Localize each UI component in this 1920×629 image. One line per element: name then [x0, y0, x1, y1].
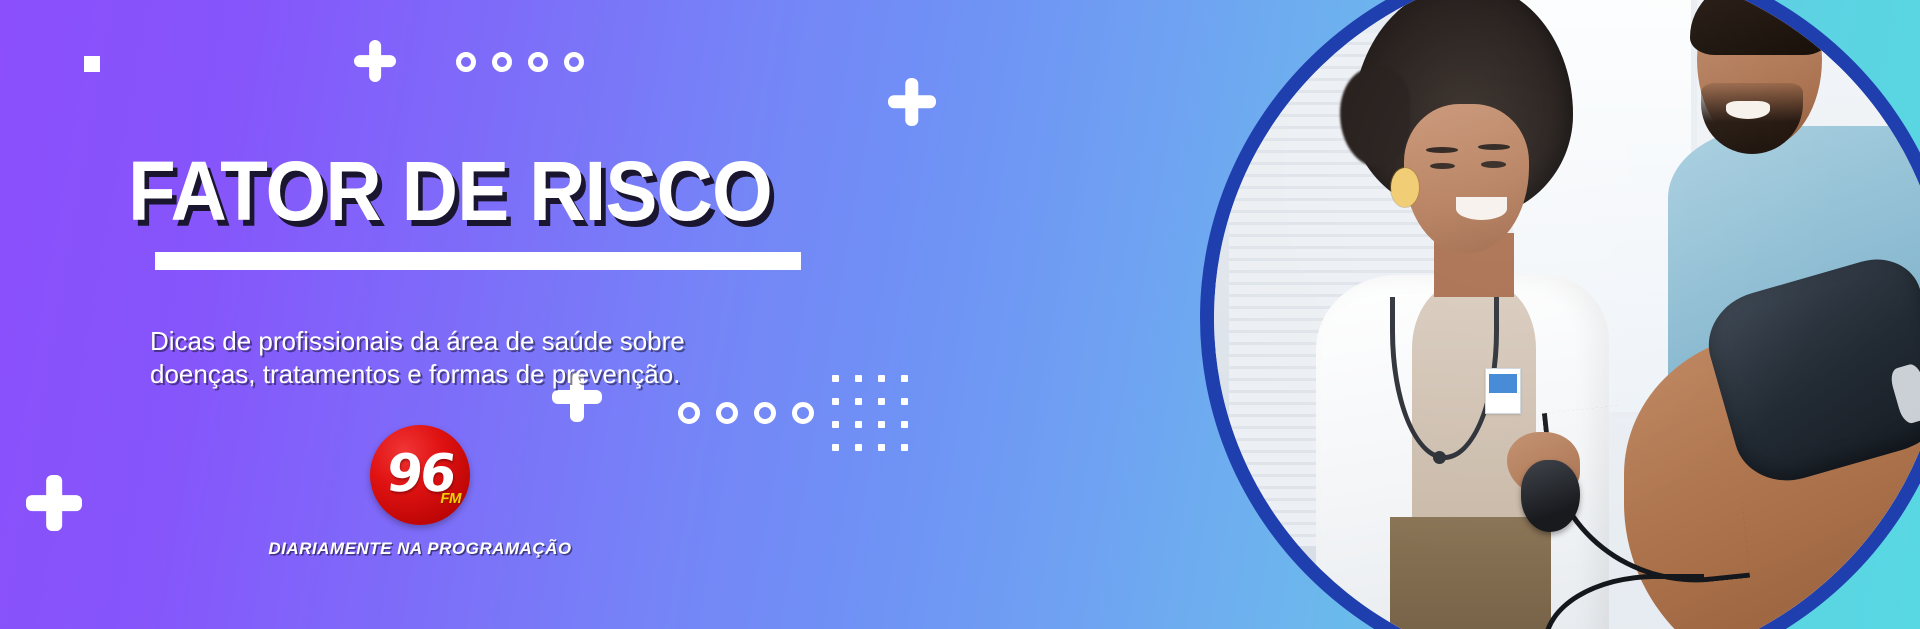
clinic-scene — [1214, 0, 1920, 629]
doctor-smile — [1456, 197, 1507, 220]
doctor-trousers — [1390, 517, 1551, 629]
subtitle-line-1: Dicas de profissionais da área de saúde … — [150, 325, 850, 358]
banner-subtitle: Dicas de profissionais da área de saúde … — [150, 325, 850, 392]
doctor-earring — [1391, 168, 1419, 206]
photo-image — [1214, 0, 1920, 629]
logo-disc: 96 FM — [370, 425, 470, 525]
patient-hair — [1690, 0, 1829, 55]
pump-bulb — [1521, 460, 1580, 531]
id-badge — [1485, 368, 1522, 414]
doctor-eye-right — [1481, 161, 1506, 167]
logo-fm-label: FM — [440, 490, 461, 507]
station-logo[interactable]: 96 FM DIARIAMENTE NA PROGRAMAÇÃO — [225, 425, 615, 559]
title-underline — [155, 252, 801, 270]
doctor-eye-left — [1430, 163, 1455, 169]
logo-tagline: DIARIAMENTE NA PROGRAMAÇÃO — [225, 539, 615, 559]
photo-frame — [1200, 0, 1920, 629]
page-title: FATOR DE RISCO — [128, 150, 772, 232]
doctor-brow-left — [1426, 147, 1458, 153]
banner-content: FATOR DE RISCO Dicas de profissionais da… — [0, 0, 900, 629]
promo-banner: FATOR DE RISCO Dicas de profissionais da… — [0, 0, 1920, 629]
doctor-brow-right — [1478, 144, 1510, 150]
subtitle-line-2: doenças, tratamentos e formas de prevenç… — [150, 358, 850, 391]
